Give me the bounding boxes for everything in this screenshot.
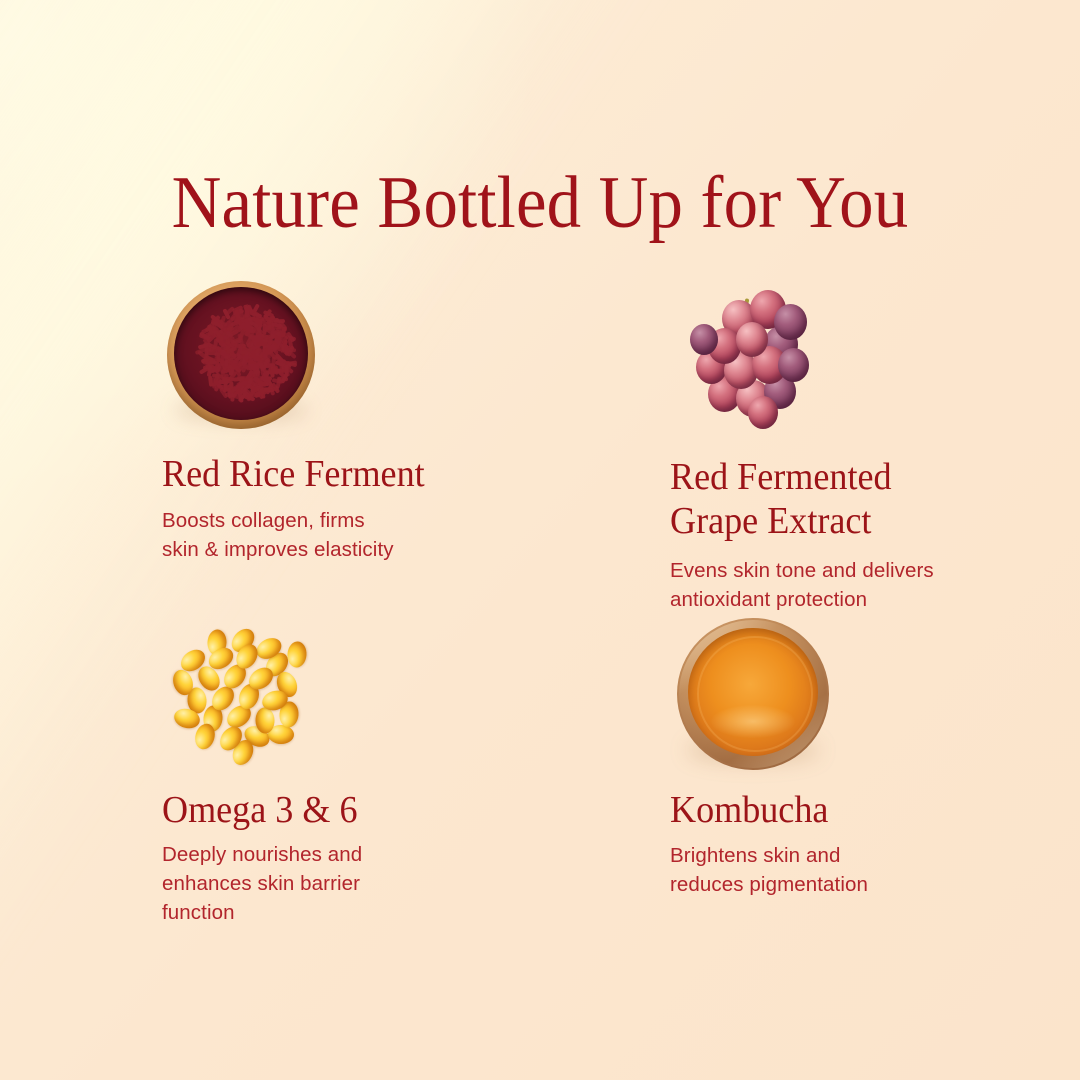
ingredient-description: Brightens skin and reduces pigmentation xyxy=(670,841,1050,899)
ingredient-figure xyxy=(162,623,542,775)
rice-grain xyxy=(268,320,272,331)
grape-berry xyxy=(690,324,718,355)
grape-berry xyxy=(778,348,809,382)
ingredient-name: Kombucha xyxy=(670,791,1031,829)
ingredient-benefits-poster: Nature Bottled Up for You Red Rice Ferme… xyxy=(0,0,1080,1080)
kombucha-liquid xyxy=(688,628,818,756)
kombucha-glass-image xyxy=(677,618,829,770)
red-rice-bowl-image xyxy=(167,281,315,429)
red-grapes-image xyxy=(678,284,806,434)
ingredient-card-kombucha: Kombucha Brightens skin and reduces pigm… xyxy=(670,623,1050,899)
omega-capsules-image xyxy=(164,629,314,765)
ingredient-card-omega-3-and-6: Omega 3 & 6 Deeply nourishes and enhance… xyxy=(162,623,542,927)
ingredient-name: Red Fermented Grape Extract xyxy=(670,455,1031,544)
grape-berry xyxy=(736,322,768,357)
ingredient-description: Boosts collagen, firms skin & improves e… xyxy=(162,506,542,564)
ingredient-figure xyxy=(162,283,542,435)
ingredient-name: Omega 3 & 6 xyxy=(162,791,523,829)
ingredient-card-red-fermented-grape-extract: Red Fermented Grape Extract Evens skin t… xyxy=(670,288,1050,614)
liquid-highlight xyxy=(711,705,794,738)
ingredient-grid: Red Rice Ferment Boosts collagen, firms … xyxy=(0,283,1080,983)
ingredient-card-red-rice-ferment: Red Rice Ferment Boosts collagen, firms … xyxy=(162,283,542,564)
grape-berry xyxy=(774,304,807,340)
softgel-capsule xyxy=(287,641,308,668)
ingredient-description: Evens skin tone and delivers antioxidant… xyxy=(670,556,1050,614)
page-title: Nature Bottled Up for You xyxy=(38,166,1042,240)
grape-berry xyxy=(748,396,778,429)
rice-grain xyxy=(218,380,229,384)
rice-grain xyxy=(224,356,229,367)
fermented-rice-grains xyxy=(174,287,308,420)
ingredient-description: Deeply nourishes and enhances skin barri… xyxy=(162,840,542,927)
ingredient-figure xyxy=(670,288,1050,440)
ingredient-name: Red Rice Ferment xyxy=(162,455,523,493)
ingredient-figure xyxy=(670,623,1050,775)
